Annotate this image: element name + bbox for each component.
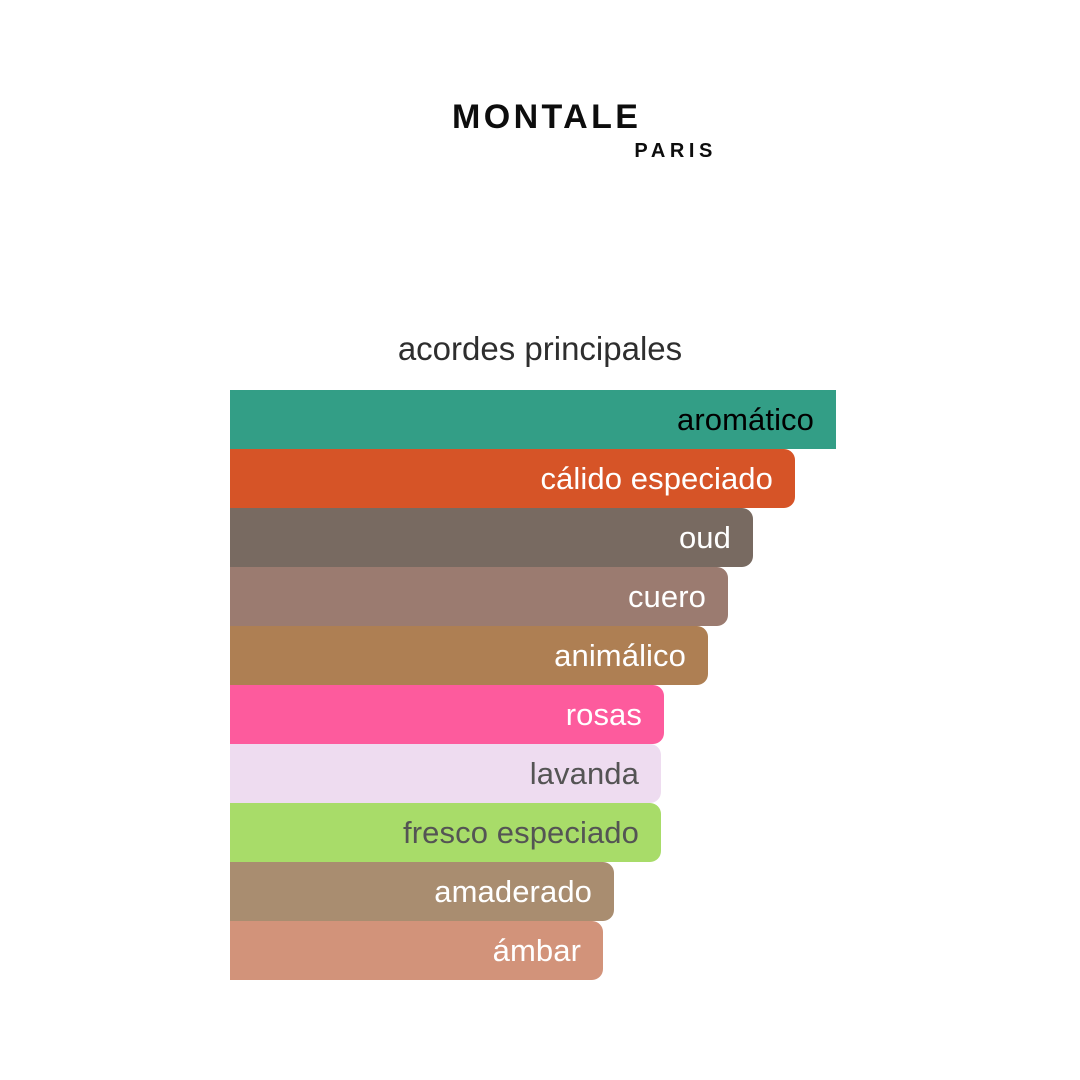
chart-title: acordes principales <box>0 329 1080 369</box>
accord-label: aromático <box>677 404 814 435</box>
accord-label: rosas <box>566 699 642 730</box>
accord-row: lavanda <box>230 744 930 803</box>
accord-label: cuero <box>628 581 706 612</box>
accord-label: oud <box>679 522 731 553</box>
accord-bar: animálico <box>230 626 708 685</box>
accord-bar: fresco especiado <box>230 803 661 862</box>
accord-row: fresco especiado <box>230 803 930 862</box>
accord-row: ámbar <box>230 921 930 980</box>
brand-name: MONTALE <box>452 100 720 134</box>
accord-row: aromático <box>230 390 930 449</box>
accord-label: fresco especiado <box>403 817 639 848</box>
accord-bar: cálido especiado <box>230 449 795 508</box>
accord-row: oud <box>230 508 930 567</box>
accord-bar: amaderado <box>230 862 614 921</box>
accord-row: cálido especiado <box>230 449 930 508</box>
accord-bar: ámbar <box>230 921 603 980</box>
accord-label: ámbar <box>493 935 581 966</box>
accord-row: animálico <box>230 626 930 685</box>
brand-subtitle: PARIS <box>452 141 720 161</box>
montale-logo: MONTALE PARIS <box>452 100 720 161</box>
accord-row: amaderado <box>230 862 930 921</box>
accord-bar: lavanda <box>230 744 661 803</box>
accord-label: animálico <box>554 640 686 671</box>
accord-bar: aromático <box>230 390 836 449</box>
accord-label: lavanda <box>530 758 639 789</box>
accord-bar: oud <box>230 508 753 567</box>
accord-label: amaderado <box>434 876 592 907</box>
accord-bar: rosas <box>230 685 664 744</box>
page-root: MONTALE PARIS acordes principales aromát… <box>0 0 1080 1080</box>
accord-row: cuero <box>230 567 930 626</box>
accord-label: cálido especiado <box>540 463 773 494</box>
accord-row: rosas <box>230 685 930 744</box>
main-accords-chart: aromáticocálido especiadooudcueroanimáli… <box>230 390 930 980</box>
accord-bar: cuero <box>230 567 728 626</box>
